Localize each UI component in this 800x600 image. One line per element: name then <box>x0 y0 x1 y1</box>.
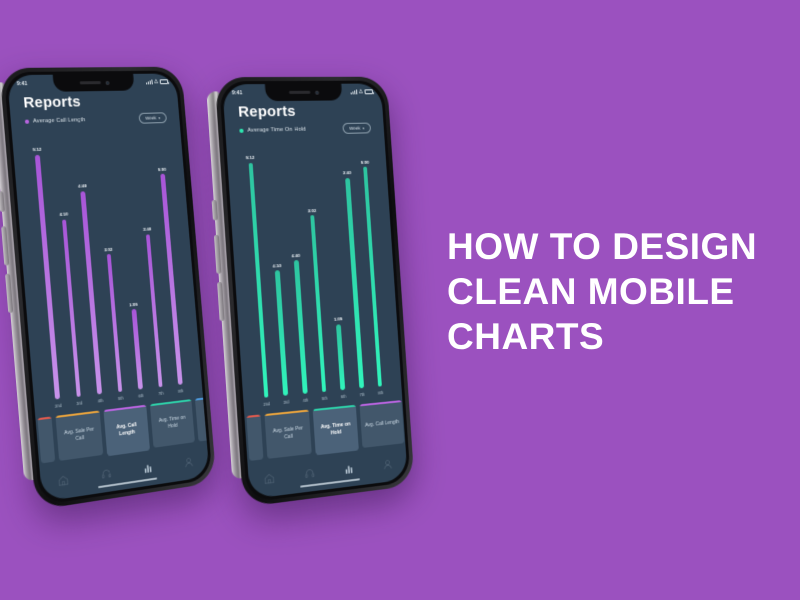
earpiece-speaker <box>79 81 100 84</box>
bar-value-label: 1:05 <box>129 301 138 307</box>
phone-one-header: Reports Average Call Length Week ▾ <box>9 92 180 127</box>
chevron-down-icon: ▾ <box>362 126 364 130</box>
date-range-selector[interactable]: Week ▾ <box>342 123 371 134</box>
bar-value-label: 5:00 <box>158 166 166 171</box>
bar-value-label: 4:40 <box>291 253 300 258</box>
battery-icon <box>160 80 169 85</box>
bar-category-label: 4th <box>97 398 103 404</box>
metric-card-partial[interactable] <box>246 414 263 460</box>
device-body: 9:41 △ Reports Average Call Length <box>0 67 217 511</box>
bar-value-label: 4:10 <box>59 211 68 217</box>
bar-value-label: 3:02 <box>104 247 113 253</box>
bar-value-label: 4:40 <box>78 183 87 188</box>
chart-bar[interactable] <box>336 324 345 390</box>
metric-card-label: Avg. Call Length <box>108 421 146 440</box>
wifi-icon: △ <box>154 79 158 84</box>
date-range-label: Week <box>145 115 156 120</box>
chart-bar[interactable] <box>248 163 268 398</box>
bar-category-label: 8th <box>178 388 184 394</box>
bar-chart-phone-one: 5:122nd4:103rd4:404th3:025th1:056th3:407… <box>22 127 194 410</box>
nav-bar-chart-icon[interactable] <box>343 460 355 479</box>
phone-mockup-one: 9:41 △ Reports Average Call Length <box>0 67 217 511</box>
bar-category-label: 8th <box>378 390 384 395</box>
chart-bar[interactable] <box>294 260 307 394</box>
metric-card-label: Avg. Sale Per Call <box>60 426 99 445</box>
bar-value-label: 5:12 <box>246 155 255 160</box>
date-range-label: Week <box>349 126 360 131</box>
metric-card-label: Avg. Time on Hold <box>154 414 191 432</box>
metric-card-label: Avg. Call Length <box>365 419 400 430</box>
bar-value-label: 3:02 <box>307 208 316 213</box>
nav-person-icon[interactable] <box>183 454 195 473</box>
bar-column[interactable]: 5:122nd <box>239 140 277 408</box>
chart-bar[interactable] <box>132 309 143 390</box>
legend-label: Average Time On Hold <box>247 126 306 133</box>
wifi-icon: △ <box>359 89 363 94</box>
device-notch <box>53 74 135 92</box>
headline-line-1: HOW TO DESIGN <box>447 224 792 269</box>
device-notch <box>265 84 342 101</box>
chart-bar[interactable] <box>35 155 60 400</box>
bar-value-label: 4:10 <box>273 263 282 269</box>
chevron-down-icon: ▾ <box>158 116 160 120</box>
device-body: 9:41 △ Reports Average Time On Hol <box>215 77 415 508</box>
nav-headset-icon[interactable] <box>100 466 112 486</box>
signal-bars-icon <box>146 80 152 85</box>
phone-two-screen: 9:41 △ Reports Average Time On Hol <box>222 83 408 499</box>
bar-category-label: 2nd <box>55 403 62 409</box>
bar-category-label: 5th <box>118 395 124 401</box>
page-title: Reports <box>238 102 371 121</box>
bar-column[interactable]: 4:103rd <box>46 130 90 407</box>
bottom-nav-two[interactable] <box>248 447 408 499</box>
bar-category-label: 4th <box>303 397 309 403</box>
legend-dot-icon <box>25 119 29 123</box>
metric-card-label: Avg. Time on Hold <box>317 421 355 439</box>
nav-bar-chart-icon[interactable] <box>142 460 154 479</box>
phone-two-header: Reports Average Time On Hold Week ▾ <box>224 102 385 136</box>
bar-value-label: 3:40 <box>143 227 152 232</box>
metric-card[interactable]: Avg. Sale Per Call <box>264 410 311 459</box>
headline-line-3: CHARTS <box>447 314 792 359</box>
bar-value-label: 3:40 <box>343 170 352 175</box>
headline-line-2: CLEAN MOBILE <box>447 269 792 314</box>
device-bezel: 9:41 △ Reports Average Time On Hol <box>219 81 411 503</box>
chart-legend: Average Time On Hold <box>239 126 306 133</box>
bar-category-label: 2nd <box>263 401 270 407</box>
bar-category-label: 7th <box>158 391 164 397</box>
status-time: 9:41 <box>232 90 243 96</box>
nav-headset-icon[interactable] <box>304 465 316 484</box>
metric-card[interactable]: Avg. Call Length <box>360 400 405 448</box>
poster-canvas: 9:41 △ Reports Average Call Length <box>0 0 800 600</box>
metric-card[interactable]: Avg. Time on Hold <box>313 405 359 456</box>
chart-bar[interactable] <box>275 271 288 396</box>
metric-card-partial[interactable] <box>37 416 55 463</box>
metric-card-label: Avg. Sale Per Call <box>268 425 307 443</box>
status-icons: △ <box>146 79 168 84</box>
bar-column[interactable]: 5:122nd <box>25 130 69 409</box>
bar-chart-phone-two: 5:122nd4:103rd4:404th3:025th1:056th3:407… <box>236 137 393 408</box>
bar-value-label: 5:00 <box>361 160 370 165</box>
front-camera-icon <box>105 81 109 85</box>
nav-person-icon[interactable] <box>382 456 393 475</box>
metric-card[interactable]: Avg. Sale Per Call <box>55 410 103 460</box>
status-time: 9:41 <box>17 81 28 87</box>
poster-headline: HOW TO DESIGNCLEAN MOBILECHARTS <box>447 224 792 359</box>
device-bezel: 9:41 △ Reports Average Call Length <box>4 71 213 506</box>
bar-column[interactable]: 4:103rd <box>259 139 296 405</box>
bar-category-label: 7th <box>359 392 365 397</box>
metric-card[interactable]: Avg. Time on Hold <box>150 399 195 448</box>
bar-category-label: 3rd <box>283 399 289 405</box>
battery-icon <box>364 90 373 95</box>
page-title: Reports <box>23 92 166 112</box>
bar-category-label: 6th <box>138 393 144 399</box>
legend-label: Average Call Length <box>33 117 86 124</box>
date-range-selector[interactable]: Week ▾ <box>138 112 167 123</box>
bottom-nav-one[interactable] <box>40 444 210 502</box>
signal-bars-icon <box>351 89 357 94</box>
phone-one-screen: 9:41 △ Reports Average Call Length <box>7 73 210 501</box>
phone-mockup-two: 9:41 △ Reports Average Time On Hol <box>215 77 415 508</box>
chart-bar[interactable] <box>81 191 102 395</box>
legend-dot-icon <box>239 128 243 132</box>
earpiece-speaker <box>289 91 311 94</box>
metric-card-partial[interactable] <box>195 398 207 442</box>
chart-legend: Average Call Length <box>25 117 86 125</box>
nav-home-icon[interactable] <box>57 472 69 492</box>
bar-value-label: 1:05 <box>334 316 343 322</box>
bar-category-label: 5th <box>322 396 328 402</box>
bar-category-label: 6th <box>341 394 347 400</box>
bar-category-label: 3rd <box>76 400 82 406</box>
status-icons: △ <box>351 89 373 94</box>
bar-value-label: 5:12 <box>32 147 41 152</box>
metric-card[interactable]: Avg. Call Length <box>103 405 150 457</box>
front-camera-icon <box>315 90 319 94</box>
nav-home-icon[interactable] <box>263 470 275 490</box>
chart-bar[interactable] <box>62 219 81 397</box>
